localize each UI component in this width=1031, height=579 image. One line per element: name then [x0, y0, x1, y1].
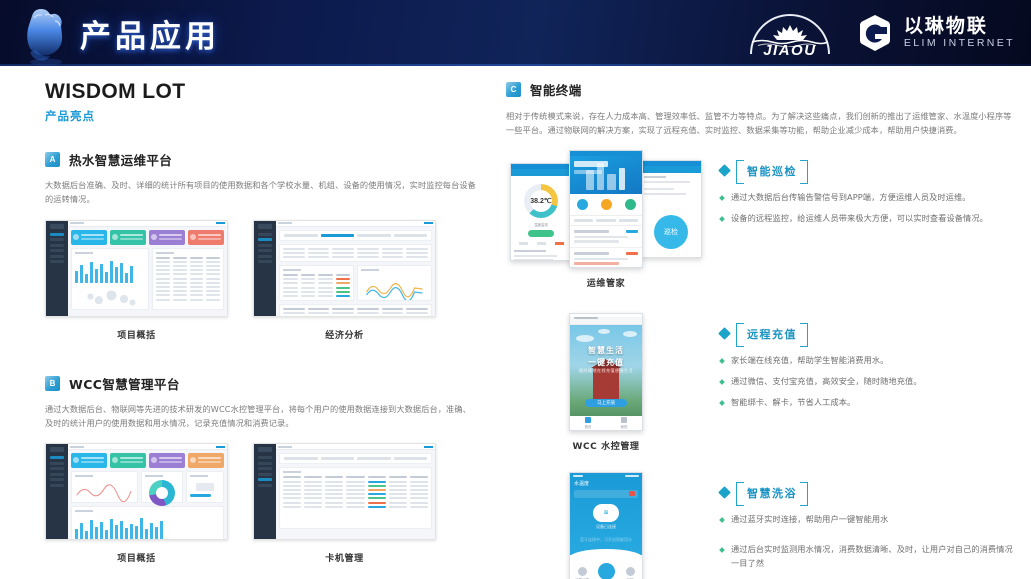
device-row[interactable]	[574, 490, 638, 498]
device-status: 设备已连接	[570, 524, 642, 530]
gauge-value: 38.2℃	[524, 184, 558, 218]
bullet-item: 智能绑卡、解卡，节省人工成本。	[720, 396, 1013, 410]
product-application-page: 产品应用 JIAOU 以琳物联 E	[0, 0, 1031, 579]
feature-heading: 智慧洗浴	[747, 487, 797, 500]
section-a: A 热水智慧运维平台 大数据后台准确、及时、详细的统计所有项目的使用数据和各个学…	[45, 150, 478, 341]
elim-logo-cn: 以琳物联	[904, 17, 1015, 37]
elim-logo-icon	[855, 13, 895, 53]
temp-tab-bar[interactable]: 消费记录 一键用水 我的	[570, 561, 642, 579]
poster-subtitle: 随时随地在线充值便捷生活	[570, 368, 642, 374]
bullet-item: 通过微信、支付宝充值，高效安全，随时随地充值。	[720, 375, 1013, 389]
bullet-item: 通过后台实时监测用水情况，消费数据清晰、及时，让用户对自己的消费情况一目了然	[720, 543, 1013, 571]
dashboard-screenshot-card-machine	[253, 443, 436, 540]
section-a-title: 热水智慧运维平台	[69, 150, 172, 169]
wisdom-subtitle: 产品亮点	[45, 108, 478, 124]
jiaou-logo-text: JIAOU	[747, 42, 833, 59]
mini-main	[68, 444, 227, 539]
section-b-title: WCC智慧管理平台	[69, 374, 180, 393]
phone-group-wcc[interactable]: 智慧生活 一键充值 随时随地在线充值便捷生活 马上充值 首页 我的 WCC 水控…	[506, 313, 706, 452]
elim-logo-en: ELIM INTERNET	[904, 38, 1015, 49]
iso-banner	[570, 156, 642, 194]
list-item[interactable]	[570, 226, 642, 248]
recharge-button[interactable]: 马上充值	[585, 399, 627, 407]
bracket-frame: 远程充值	[736, 323, 808, 345]
phone-group-ops[interactable]: 38.2℃ 温度监测	[506, 150, 706, 289]
wcc-app-bar	[570, 317, 642, 325]
feature-text-patrol: 智能巡检 通过大数据后台传输告警信号到APP端，方便运维人员及时运维。 设备的远…	[720, 150, 1013, 233]
tab-label: 首页	[585, 424, 592, 429]
mini-sidebar	[254, 444, 276, 539]
bracket-frame: 智慧洗浴	[736, 482, 808, 504]
feature-text-recharge: 远程充值 家长端在线充值，帮助学生智能消费用水。 通过微信、支付宝充值，高效安全…	[720, 313, 1013, 417]
phone-mockups: 38.2℃ 温度监测	[506, 150, 706, 268]
wcc-poster: 智慧生活 一键充值 随时随地在线充值便捷生活 马上充值	[570, 325, 642, 423]
section-b-badge: B	[45, 376, 60, 391]
mini-main	[276, 444, 435, 539]
donut-chart	[149, 480, 175, 506]
diamond-icon	[718, 164, 731, 177]
screenshot-caption: 项目概括	[45, 551, 228, 564]
temp-header-area: 水温度 ≋ 设备已连接 蓝牙连接中，可开启智能用水	[570, 473, 642, 555]
section-b-shots: 项目概括	[45, 443, 478, 564]
screenshot-card[interactable]: 卡机管理	[253, 443, 436, 564]
screenshot-card[interactable]: 项目概括	[45, 220, 228, 341]
tab-label: 我的	[621, 424, 628, 429]
feature-caption: 运维管家	[506, 276, 706, 289]
phone-group-temp[interactable]: 水温度 ≋ 设备已连接 蓝牙连接中，可开启智能用水 消费记录 一键用水 我的	[506, 472, 706, 579]
wisdom-title: WISDOM LOT	[45, 80, 478, 104]
page-header: 产品应用 JIAOU 以琳物联 E	[0, 0, 1031, 66]
water-icon: ≋	[593, 504, 619, 522]
screenshot-caption: 经济分析	[253, 328, 436, 341]
jiaou-logo: JIAOU	[747, 10, 833, 56]
tab-home[interactable]: 首页	[570, 416, 606, 430]
status-pill	[528, 230, 554, 237]
tab-records[interactable]: 消费记录	[570, 567, 594, 579]
bullet-item: 设备的远程监控，给运维人员带来极大方便，可以实时查看设备情况。	[720, 212, 1013, 226]
feature-heading: 远程充值	[747, 328, 797, 341]
bullet-item: 通过蓝牙实时连接，帮助用户一键智能用水	[720, 513, 1013, 527]
section-b: B WCC智慧管理平台 通过大数据后台、物联网等先进的技术研发的WCC水控管理平…	[45, 374, 478, 565]
tab-onekey-water[interactable]: 一键用水	[594, 563, 618, 579]
filter-row[interactable]	[570, 215, 642, 226]
section-c-head: C 智能终端	[506, 80, 1013, 99]
phone-right-screen: 巡检 今日巡检 3 台	[640, 160, 702, 258]
screenshot-caption: 项目概括	[45, 328, 228, 341]
feature-bullets: 通过蓝牙实时连接，帮助用户一键智能用水 通过后台实时监测用水情况，消费数据清晰、…	[720, 513, 1013, 571]
section-a-head: A 热水智慧运维平台	[45, 150, 478, 169]
feature-block-patrol: 38.2℃ 温度监测	[506, 150, 1013, 289]
dashboard-screenshot-economic	[253, 220, 436, 317]
phone-left-screen: 38.2℃ 温度监测	[510, 163, 572, 261]
screenshot-card[interactable]: 经济分析	[253, 220, 436, 341]
feature-block-recharge: 智慧生活 一键充值 随时随地在线充值便捷生活 马上充值 首页 我的 WCC 水控…	[506, 313, 1013, 452]
section-b-desc: 通过大数据后台、物联网等先进的技术研发的WCC水控管理平台，将每个用户的使用数据…	[45, 402, 478, 431]
screenshot-card[interactable]: 项目概括	[45, 443, 228, 564]
poster-line-2: 一键充值	[570, 357, 642, 368]
tab-mine[interactable]: 我的	[618, 567, 642, 579]
feature-block-bathing: 水温度 ≋ 设备已连接 蓝牙连接中，可开启智能用水 消费记录 一键用水 我的	[506, 472, 1013, 579]
connect-hint: 蓝牙连接中，可开启智能用水	[570, 537, 642, 543]
mini-main	[68, 221, 227, 316]
dashboard-screenshot-overview	[45, 220, 228, 317]
elim-logo: 以琳物联 ELIM INTERNET	[855, 13, 1015, 53]
section-a-shots: 项目概括	[45, 220, 478, 341]
feature-heading: 智能巡检	[747, 165, 797, 178]
diamond-icon	[718, 486, 731, 499]
bullet-item: 通过大数据后台传输告警信号到APP端，方便运维人员及时运维。	[720, 191, 1013, 205]
bracket-frame: 智能巡检	[736, 160, 808, 182]
area-chart	[75, 480, 134, 502]
feature-heading-row: 智慧洗浴	[720, 482, 1013, 504]
dashboard-screenshot-wcc-overview	[45, 443, 228, 540]
section-c-title: 智能终端	[530, 80, 582, 99]
quick-actions[interactable]	[570, 194, 642, 215]
section-a-badge: A	[45, 152, 60, 167]
page-title: 产品应用	[80, 11, 220, 56]
feature-bullets: 家长端在线充值，帮助学生智能消费用水。 通过微信、支付宝充值，高效安全，随时随地…	[720, 354, 1013, 410]
feature-heading-row: 远程充值	[720, 323, 1013, 345]
left-column: WISDOM LOT 产品亮点 A 热水智慧运维平台 大数据后台准确、及时、详细…	[18, 80, 488, 579]
temp-phone-screen: 水温度 ≋ 设备已连接 蓝牙连接中，可开启智能用水 消费记录 一键用水 我的	[569, 472, 643, 579]
temp-app-title: 水温度	[570, 479, 642, 488]
feature-text-bathing: 智慧洗浴 通过蓝牙实时连接，帮助用户一键智能用水 通过后台实时监测用水情况，消费…	[720, 472, 1013, 578]
line-chart	[361, 274, 428, 300]
mini-sidebar	[46, 444, 68, 539]
feature-heading-row: 智能巡检	[720, 160, 1013, 182]
feature-caption: WCC 水控管理	[506, 439, 706, 452]
header-logos: JIAOU 以琳物联 ELIM INTERNET	[747, 0, 1015, 66]
poster-line-1: 智慧生活	[570, 345, 642, 356]
right-column: C 智能终端 相对于传统模式来说，存在人力成本高、管理效率低、监管不力等特点。为…	[488, 80, 1013, 579]
section-b-head: B WCC智慧管理平台	[45, 374, 478, 393]
mini-sidebar	[46, 221, 68, 316]
section-c-badge: C	[506, 82, 521, 97]
mini-sidebar	[254, 221, 276, 316]
wcc-tab-bar[interactable]: 首页 我的	[570, 416, 642, 430]
feature-bullets: 通过大数据后台传输告警信号到APP端，方便运维人员及时运维。 设备的远程监控，给…	[720, 191, 1013, 226]
phone-center-screen	[569, 150, 643, 268]
section-c-desc: 相对于传统模式来说，存在人力成本高、管理效率低、监管不力等特点。为了解决这些痛点…	[506, 109, 1013, 138]
bullet-item: 家长端在线充值，帮助学生智能消费用水。	[720, 354, 1013, 368]
fist-icon	[14, 2, 76, 66]
page-content: WISDOM LOT 产品亮点 A 热水智慧运维平台 大数据后台准确、及时、详细…	[0, 66, 1031, 579]
list-item[interactable]	[570, 248, 642, 268]
wcc-phone-screen: 智慧生活 一键充值 随时随地在线充值便捷生活 马上充值 首页 我的	[569, 313, 643, 431]
temperature-gauge: 38.2℃	[524, 184, 558, 218]
screenshot-caption: 卡机管理	[253, 551, 436, 564]
section-a-desc: 大数据后台准确、及时、详细的统计所有项目的使用数据和各个学校水量、机组、设备的使…	[45, 178, 478, 207]
diamond-icon	[718, 327, 731, 340]
tab-mine[interactable]: 我的	[606, 416, 642, 430]
mini-main	[276, 221, 435, 316]
patrol-button[interactable]: 巡检	[654, 215, 688, 249]
